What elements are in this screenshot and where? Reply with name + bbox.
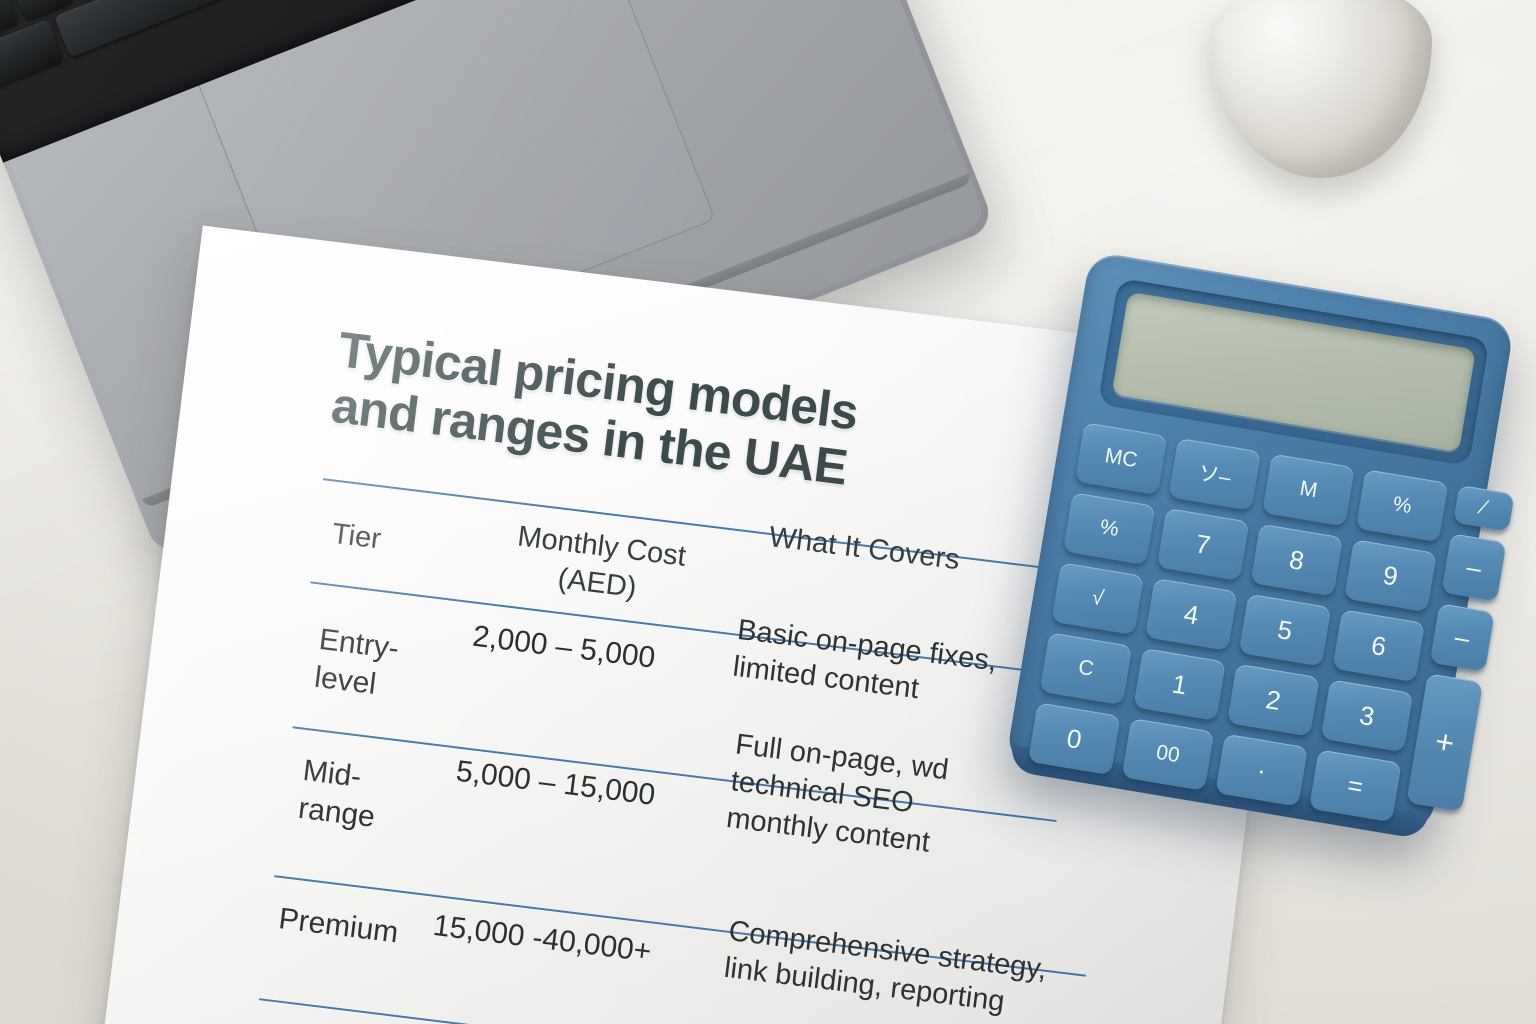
- calculator-key-mr[interactable]: ソ–: [1168, 438, 1261, 511]
- calculator-key-0[interactable]: 0: [1028, 702, 1121, 775]
- calculator-key-decimal[interactable]: ·: [1215, 734, 1308, 807]
- plant-pot: [1210, 0, 1432, 178]
- calculator-key-2[interactable]: 2: [1227, 664, 1320, 737]
- calculator-key-mc[interactable]: MC: [1075, 422, 1168, 495]
- calculator-key-double-0[interactable]: 00: [1122, 718, 1215, 791]
- calculator-keypad: MC ソ– M % % 7 8 9 √ 4 5: [1026, 422, 1471, 837]
- calculator-key-4[interactable]: 4: [1145, 578, 1238, 651]
- calculator-key-minus[interactable]: –: [1430, 603, 1495, 671]
- table-row-3-covers: Comprehensive strategy, link building, r…: [722, 913, 1069, 1024]
- calculator-key-equals[interactable]: =: [1309, 749, 1402, 822]
- calculator-key-3[interactable]: 3: [1321, 679, 1414, 752]
- calculator-key-m[interactable]: M: [1262, 454, 1355, 527]
- tier-line-2: range: [296, 790, 377, 837]
- table-header-tier: Tier: [330, 516, 383, 559]
- calculator-key-6[interactable]: 6: [1332, 609, 1425, 682]
- table-row-2-covers: Full on-page, wd technical SEO monthly c…: [724, 727, 1035, 874]
- desk-scene: 6 7 8 9 0 - = U I O P [ ]: [0, 0, 1536, 1024]
- table-header-cost: Monthly Cost (AED): [481, 515, 718, 617]
- page-title: Typical pricing modelsand ranges in the …: [329, 321, 1037, 517]
- table-row-2-tier: Mid- range: [296, 752, 382, 838]
- calculator-key-percent-2[interactable]: %: [1063, 492, 1156, 565]
- calculator-key-clear[interactable]: C: [1040, 632, 1133, 705]
- table-row-1-tier: Entry- level: [312, 621, 401, 707]
- calculator-key-5[interactable]: 5: [1239, 594, 1332, 667]
- table-row-3-tier: Premium: [277, 900, 401, 953]
- calculator: MC ソ– M % % 7 8 9 √ 4 5: [1003, 251, 1536, 851]
- calculator-key-sqrt[interactable]: √: [1051, 562, 1144, 635]
- calculator-key-1[interactable]: 1: [1133, 648, 1226, 721]
- calculator-key-plus[interactable]: +: [1406, 673, 1483, 811]
- calculator-key-8[interactable]: 8: [1250, 524, 1343, 597]
- calculator-key-percent[interactable]: %: [1356, 469, 1449, 542]
- calculator-key-divide[interactable]: ⁄: [1453, 485, 1515, 532]
- table-header-covers: What It Covers: [767, 519, 962, 579]
- calculator-key-7[interactable]: 7: [1157, 508, 1250, 581]
- table-row-1-covers: Basic on-page fixes, limited content: [731, 612, 1038, 722]
- potted-plant: [1168, 0, 1468, 192]
- keyboard-key-command: [0, 19, 64, 89]
- calculator-key-multiply[interactable]: –: [1441, 533, 1506, 601]
- table-row-1-cost: 2,000 – 5,000: [470, 618, 657, 678]
- table-row-2-cost: 5,000 – 15,000: [454, 753, 657, 816]
- calculator-key-9[interactable]: 9: [1344, 539, 1437, 612]
